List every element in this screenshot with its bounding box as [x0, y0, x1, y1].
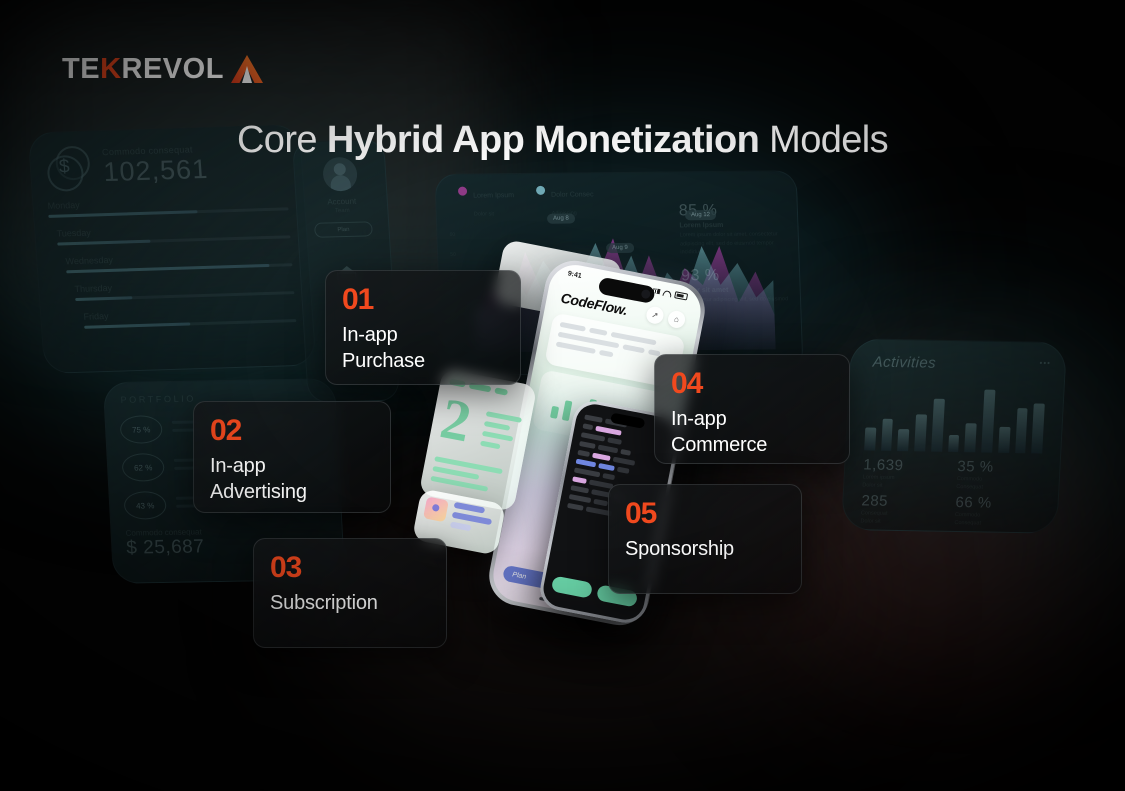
activity-bar [931, 398, 945, 451]
app-action-buttons: ↗ ⌂ [645, 305, 687, 329]
revenue-progress-fill [57, 240, 150, 246]
activity-stat: 285Consequat Dolor sit [860, 492, 946, 527]
code-segment [569, 494, 592, 503]
more-dots-icon: ••• [1039, 359, 1051, 368]
share-icon[interactable]: ↗ [645, 305, 665, 325]
portfolio-ring: 75 % [119, 415, 162, 444]
code-segment [593, 499, 608, 507]
account-plan-pill: Plan [314, 221, 373, 237]
activity-bar [948, 435, 960, 452]
model-number: 03 [270, 553, 430, 583]
code-segment [602, 473, 615, 480]
activity-bar [981, 389, 995, 452]
code-segment [584, 414, 603, 422]
account-subtitle: Team [297, 207, 387, 215]
activity-bar [864, 427, 876, 450]
legend-sublabel: Dolor sit [474, 211, 494, 217]
portfolio-ring: 43 % [123, 491, 166, 520]
activity-stat-value: 66 % [955, 494, 1040, 512]
model-number: 04 [671, 369, 833, 399]
activity-bar [1032, 403, 1045, 454]
brand-name-part1: TE [62, 53, 100, 85]
brand-name-part2: REVOL [122, 53, 224, 85]
code-segment [617, 467, 630, 474]
chart-tooltip: Aug 12 [685, 210, 716, 220]
activity-bar [881, 419, 893, 451]
code-segment [620, 449, 631, 456]
model-card-05[interactable]: 05 Sponsorship [608, 484, 802, 594]
chart-tooltip: Aug 8 [547, 213, 575, 223]
activity-stat: 1,639Lorem ipsum Dolor sit [862, 456, 948, 491]
run-button[interactable] [551, 575, 593, 598]
activities-title: Activities [850, 339, 1066, 374]
page-title: Core Hybrid App Monetization Models [0, 120, 1125, 162]
model-label: Sponsorship [625, 536, 785, 562]
revenue-row: Tuesday [56, 221, 290, 245]
activity-bar [998, 427, 1010, 453]
chart-legend-item: Lorem IpsumDolor sit [458, 184, 515, 221]
code-segment [592, 453, 611, 461]
activity-bar [898, 429, 910, 451]
avatar [322, 157, 358, 192]
revenue-progress-fill [48, 210, 197, 218]
code-segment [607, 437, 622, 445]
model-number: 01 [342, 285, 504, 315]
code-segment [598, 445, 619, 454]
legend-label: Lorem Ipsum [473, 192, 514, 199]
activity-stat-value: 1,639 [863, 456, 948, 474]
background-activities-panel: ••• Activities 1,639Lorem ipsum Dolor si… [841, 338, 1067, 534]
activity-stat-caption: Lorem ipsum Dolor sit [862, 473, 947, 491]
code-segment [613, 457, 636, 466]
chart-tooltip: Aug 9 [606, 243, 634, 253]
code-segment [582, 423, 593, 430]
model-label: Subscription [270, 590, 430, 616]
code-segment [576, 459, 597, 468]
activity-stat-value: 285 [861, 492, 946, 510]
legend-color-dot [536, 186, 545, 195]
activity-bar [1015, 408, 1028, 453]
code-segment [567, 503, 584, 511]
infographic-canvas: $ Commodo consequat 102,561 MondayTuesda… [0, 0, 1125, 791]
activity-stat: 66 %Commodo Consequat [954, 494, 1040, 529]
code-segment [598, 463, 615, 471]
headline-suffix: Models [759, 119, 888, 161]
model-card-01[interactable]: 01 In-app Purchase [325, 270, 521, 385]
revenue-progress-fill [84, 322, 190, 328]
decorative-numeral: 2 [437, 395, 474, 446]
chart-stat-text: Lorem ipsum dolor sit amet, consectetur … [680, 230, 789, 257]
activity-bar [914, 414, 927, 452]
revenue-row: Wednesday [65, 249, 292, 273]
brand-wordmark: TEKREVOL [62, 55, 224, 84]
code-segment [579, 441, 596, 449]
legend-color-dot [458, 187, 467, 196]
code-segment [572, 476, 587, 484]
model-number: 05 [625, 499, 785, 529]
activities-bar-chart [846, 370, 1064, 454]
revenue-progress-fill [75, 296, 132, 301]
model-card-02[interactable]: 02 In-app Advertising [193, 401, 391, 513]
activity-stat-caption: Commodo Consequat [956, 475, 1041, 493]
activity-bar [965, 423, 977, 452]
revenue-row: Thursday [74, 277, 294, 301]
activities-stats-grid: 1,639Lorem ipsum Dolor sit35 %Commodo Co… [842, 450, 1060, 529]
triangle-logo-icon [230, 54, 264, 84]
headline-emphasis: Hybrid App Monetization [327, 119, 759, 161]
wifi-icon [662, 289, 672, 297]
portfolio-ring: 62 % [121, 453, 164, 482]
code-segment [577, 450, 590, 457]
headline-prefix: Core [237, 119, 327, 161]
activity-stat-caption: Commodo Consequat [954, 510, 1039, 528]
activity-stat: 35 %Commodo Consequat [956, 458, 1042, 493]
activity-stat-caption: Consequat Dolor sit [860, 509, 945, 527]
model-number: 02 [210, 416, 374, 446]
brand-name-k: K [100, 53, 121, 85]
y-tick-label: 60 [449, 225, 455, 245]
thumbnail-icon [423, 496, 449, 522]
account-name: Account [296, 196, 387, 207]
activity-stat-value: 35 % [957, 458, 1042, 476]
legend-label: Dolor Consec [551, 191, 594, 198]
code-segment [574, 467, 600, 477]
code-segment [595, 426, 621, 436]
model-card-03[interactable]: 03 Subscription [253, 538, 447, 648]
code-segment [581, 432, 606, 441]
revenue-row-list: MondayTuesdayWednesdayThursdayFriday [33, 187, 312, 330]
lock-icon[interactable]: ⌂ [667, 309, 687, 329]
model-label: In-app Advertising [210, 453, 374, 506]
model-card-04[interactable]: 04 In-app Commerce [654, 354, 850, 464]
model-label: In-app Commerce [671, 406, 833, 459]
revenue-row: Monday [47, 193, 288, 218]
revenue-row: Friday [83, 305, 296, 329]
code-segment [570, 485, 589, 493]
chart-stat-title: Lorem Ipsum [679, 221, 787, 229]
brand-logo[interactable]: TEKREVOL [62, 54, 264, 84]
model-label: In-app Purchase [342, 322, 504, 375]
